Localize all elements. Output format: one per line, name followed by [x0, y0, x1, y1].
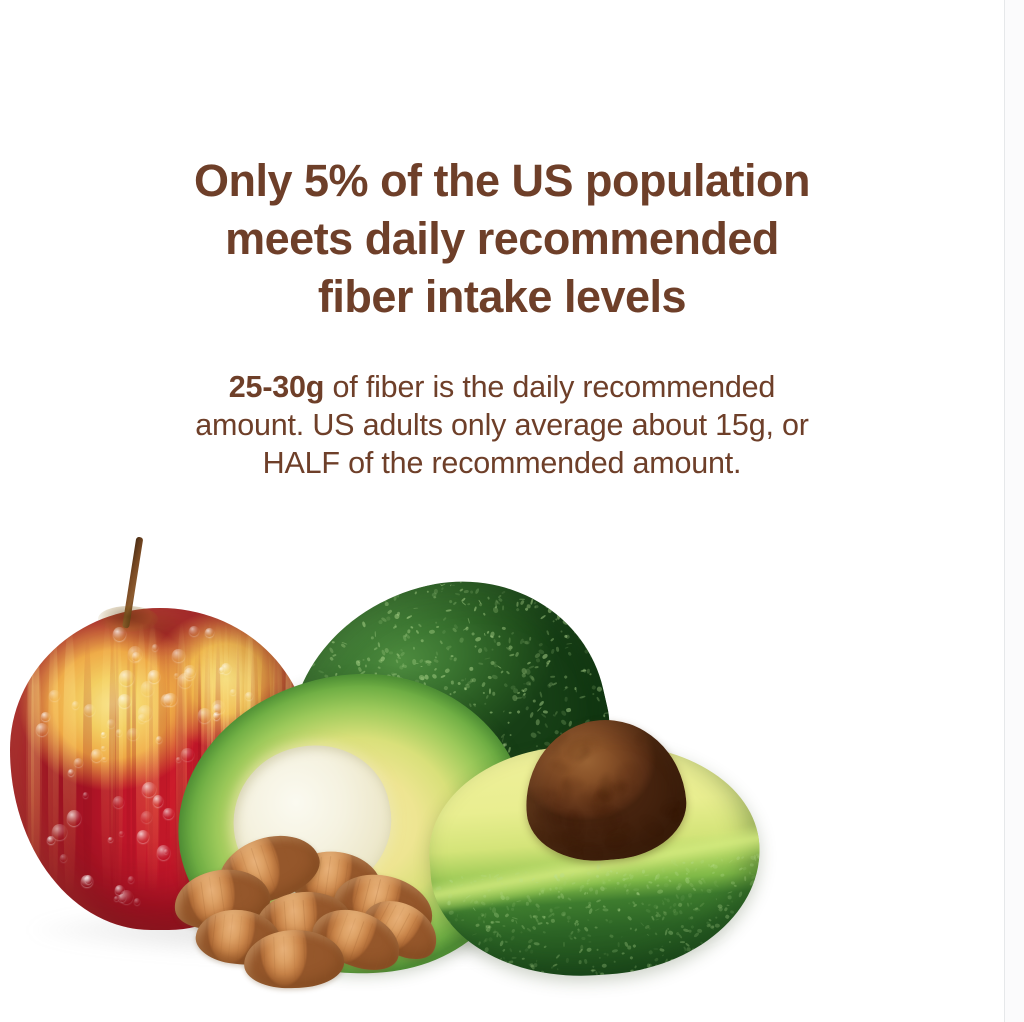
rind-speck — [410, 626, 413, 629]
rind-speck — [551, 919, 556, 924]
rind-speck — [493, 663, 497, 668]
rind-speck — [580, 945, 583, 951]
rind-speck — [728, 895, 732, 899]
rind-speck — [753, 913, 756, 916]
rind-speck — [651, 916, 655, 922]
rind-speck — [515, 607, 519, 611]
rind-speck — [699, 961, 703, 964]
water-droplet — [198, 708, 211, 722]
rind-speck — [506, 670, 510, 674]
rind-speck — [329, 656, 334, 661]
rind-speck — [718, 907, 723, 912]
rind-speck — [511, 956, 517, 959]
rind-speck — [533, 915, 536, 917]
rind-speck — [516, 710, 520, 714]
rind-speck — [550, 565, 556, 571]
rind-speck — [749, 880, 755, 887]
rind-speck — [763, 905, 768, 910]
rind-speck — [731, 901, 733, 903]
water-droplet — [163, 808, 174, 820]
rind-speck — [530, 732, 537, 739]
rind-speck — [502, 956, 506, 960]
rind-speck — [647, 904, 651, 907]
water-droplet — [107, 719, 115, 728]
rind-speck — [744, 932, 748, 936]
rind-speck — [688, 916, 692, 920]
rind-speck — [579, 888, 583, 892]
rind-speck — [720, 858, 724, 862]
rind-speck — [566, 915, 571, 920]
rind-speck — [491, 674, 498, 680]
rind-speck — [449, 599, 452, 603]
rind-speck — [427, 591, 429, 593]
rind-speck — [581, 937, 586, 940]
rind-speck — [397, 611, 401, 615]
rind-speck — [540, 879, 543, 882]
rind-speck — [569, 584, 571, 589]
water-droplet — [119, 831, 123, 836]
rind-speck — [563, 941, 565, 946]
rind-speck — [729, 859, 734, 863]
almond-grain — [253, 936, 255, 975]
rind-speck — [715, 898, 717, 901]
water-droplet — [49, 690, 60, 701]
rind-speck — [543, 945, 546, 948]
water-droplet — [212, 700, 225, 714]
water-droplet — [128, 876, 134, 883]
almond-grain — [263, 939, 266, 984]
almond-grain — [399, 915, 418, 949]
rind-speck — [523, 979, 529, 985]
rind-speck — [560, 719, 567, 726]
rind-speck — [481, 878, 484, 880]
rind-speck — [608, 920, 613, 925]
rind-speck — [592, 965, 595, 968]
rind-speck — [654, 947, 659, 950]
rind-speck — [503, 683, 508, 688]
rind-speck — [647, 888, 650, 890]
rind-speck — [572, 588, 574, 591]
rind-speck — [467, 603, 470, 605]
rind-speck — [457, 682, 461, 686]
rind-speck — [596, 864, 599, 869]
rind-speck — [714, 880, 719, 885]
rind-speck — [540, 615, 546, 620]
rind-speck — [574, 566, 577, 570]
water-droplet — [115, 885, 124, 895]
rind-speck — [521, 580, 524, 584]
pit-mottle — [526, 787, 551, 802]
rind-speck — [402, 664, 406, 668]
rind-speck — [599, 957, 601, 959]
rind-speck — [694, 868, 698, 872]
rind-speck — [363, 659, 365, 661]
apple-streak — [136, 621, 147, 917]
rind-speck — [484, 646, 489, 652]
rind-speck — [674, 871, 680, 877]
rind-speck — [536, 719, 540, 725]
rind-speck — [507, 961, 513, 965]
rind-speck — [331, 629, 338, 635]
rind-speck — [721, 930, 724, 933]
rind-speck — [743, 956, 746, 960]
rind-speck — [537, 731, 541, 734]
rind-speck — [659, 948, 665, 952]
rind-speck — [555, 646, 559, 652]
rind-speck — [329, 647, 334, 654]
rind-speck — [505, 975, 511, 981]
rind-speck — [483, 633, 485, 637]
rind-speck — [528, 674, 534, 681]
rind-speck — [444, 667, 450, 673]
water-droplet — [72, 701, 79, 709]
rind-speck — [419, 659, 424, 664]
rind-speck — [474, 646, 477, 649]
rind-speck — [499, 933, 503, 938]
rind-speck — [497, 665, 502, 669]
rind-speck — [455, 592, 460, 595]
rind-speck — [761, 888, 767, 894]
rind-speck — [669, 906, 672, 910]
rind-speck — [603, 712, 610, 714]
water-droplet — [68, 769, 75, 776]
rind-speck — [462, 679, 465, 681]
rind-speck — [504, 575, 507, 581]
water-droplet — [60, 854, 67, 862]
rind-speck — [415, 630, 419, 634]
rind-speck — [464, 589, 469, 592]
rind-speck — [525, 706, 529, 711]
rind-speck — [612, 949, 618, 953]
rind-speck — [441, 630, 446, 635]
rind-speck — [357, 659, 360, 662]
rind-speck — [495, 577, 499, 581]
almond-grain — [325, 856, 331, 895]
rind-speck — [645, 909, 651, 914]
rind-speck — [490, 712, 494, 715]
rind-speck — [502, 949, 506, 953]
rind-speck — [680, 941, 685, 943]
rind-speck — [483, 895, 487, 899]
rind-speck — [552, 578, 557, 583]
water-droplet — [91, 749, 102, 761]
rind-speck — [693, 932, 700, 938]
rind-speck — [453, 601, 457, 605]
rind-speck — [732, 944, 737, 949]
almond-grain — [273, 937, 275, 976]
rind-speck — [528, 665, 534, 669]
rind-speck — [646, 934, 650, 937]
rind-speck — [596, 948, 599, 951]
almond-grain — [303, 938, 306, 984]
rind-speck — [697, 928, 703, 932]
rind-speck — [700, 859, 705, 864]
rind-speck — [509, 638, 511, 644]
rind-speck — [591, 685, 596, 691]
rind-speck — [516, 971, 520, 975]
rind-speck — [686, 903, 689, 907]
rind-speck — [634, 929, 637, 932]
rind-speck — [633, 888, 639, 891]
rind-speck — [474, 637, 481, 643]
rind-speck — [621, 952, 624, 955]
water-droplet — [142, 782, 156, 797]
water-droplet — [137, 830, 149, 843]
rind-speck — [536, 745, 538, 747]
rind-speck — [510, 919, 514, 923]
rind-speck — [434, 668, 438, 672]
rind-speck — [511, 631, 515, 635]
avocado-rind-texture — [431, 853, 768, 986]
rind-speck — [505, 571, 508, 574]
rind-speck — [397, 594, 399, 598]
rind-speck — [565, 958, 568, 963]
rind-speck — [473, 960, 478, 966]
rind-speck — [716, 857, 718, 860]
rind-speck — [550, 675, 555, 677]
rind-speck — [754, 888, 759, 893]
rind-speck — [536, 959, 538, 962]
rind-speck — [483, 691, 486, 694]
almond-grain — [293, 936, 296, 980]
almond-grain — [236, 916, 242, 961]
rind-speck — [502, 605, 504, 610]
rind-speck — [564, 675, 568, 679]
rind-speck — [727, 890, 732, 893]
rind-speck — [499, 940, 504, 947]
rind-speck — [552, 963, 558, 967]
rind-speck — [494, 969, 500, 975]
rind-speck — [385, 602, 390, 607]
rind-speck — [588, 652, 595, 658]
rind-speck — [561, 630, 563, 632]
rind-speck — [596, 697, 601, 703]
rind-speck — [754, 920, 758, 925]
rind-speck — [654, 932, 658, 936]
rind-speck — [569, 937, 572, 939]
rind-speck — [749, 892, 753, 896]
rind-speck — [443, 686, 448, 691]
rind-speck — [725, 914, 731, 920]
rind-speck — [644, 968, 646, 971]
rind-speck — [431, 673, 437, 679]
almond-grain — [228, 914, 234, 960]
rind-speck — [346, 603, 351, 610]
rind-speck — [545, 597, 548, 600]
rind-speck — [747, 909, 752, 913]
rind-speck — [713, 865, 718, 869]
rind-speck — [641, 902, 644, 905]
rind-speck — [629, 956, 633, 960]
rind-speck — [562, 913, 566, 917]
rind-speck — [491, 649, 493, 651]
rind-speck — [727, 905, 730, 907]
almond-grain — [374, 928, 391, 972]
rind-speck — [524, 971, 529, 976]
rind-speck — [592, 970, 594, 973]
rind-speck — [567, 652, 572, 657]
rind-speck — [366, 657, 370, 662]
rind-speck — [505, 941, 508, 943]
rind-speck — [679, 956, 681, 958]
rind-speck — [686, 873, 688, 875]
rind-speck — [489, 688, 491, 694]
rind-speck — [754, 900, 758, 904]
rind-speck — [627, 915, 633, 921]
rind-speck — [555, 575, 558, 579]
rind-speck — [503, 710, 505, 712]
rind-speck — [551, 648, 555, 653]
water-droplet — [113, 796, 124, 808]
rind-speck — [389, 651, 393, 654]
rind-speck — [577, 929, 581, 933]
water-droplet — [230, 689, 235, 695]
rind-speck — [338, 664, 342, 668]
rind-speck — [666, 876, 669, 878]
rind-speck — [509, 733, 512, 736]
water-droplet — [116, 729, 122, 735]
rind-speck — [370, 599, 374, 603]
almond-grain — [211, 916, 216, 956]
rind-speck — [358, 666, 362, 672]
rind-speck — [585, 642, 587, 648]
rind-speck — [474, 606, 478, 611]
rind-speck — [657, 889, 664, 894]
rind-speck — [485, 971, 491, 975]
rind-speck — [577, 635, 583, 641]
water-droplet — [245, 692, 253, 701]
rind-speck — [507, 721, 510, 724]
rind-speck — [680, 895, 685, 902]
rind-speck — [464, 677, 466, 681]
rind-speck — [515, 920, 518, 925]
rind-speck — [552, 913, 555, 916]
headline-line-1: Only 5% of the US population — [120, 152, 884, 210]
rind-speck — [484, 946, 489, 952]
rind-speck — [599, 863, 602, 868]
almond-grain — [181, 883, 187, 921]
rind-speck — [407, 616, 410, 619]
water-droplet — [176, 757, 181, 762]
rind-speck — [742, 866, 747, 871]
rind-speck — [654, 964, 660, 970]
rind-speck — [459, 579, 463, 584]
rind-speck — [568, 906, 572, 908]
rind-speck — [668, 879, 671, 882]
rind-speck — [710, 964, 713, 967]
rind-speck — [578, 960, 582, 964]
rind-speck — [622, 878, 626, 882]
rind-speck — [739, 920, 744, 926]
rind-speck — [318, 670, 324, 674]
rind-speck — [572, 615, 575, 620]
almond-grain — [313, 937, 316, 983]
rind-speck — [511, 928, 516, 933]
water-droplet — [41, 712, 49, 721]
rind-speck — [500, 882, 504, 885]
rind-speck — [759, 896, 763, 899]
rind-speck — [692, 887, 696, 891]
rind-speck — [576, 593, 581, 599]
rind-speck — [474, 946, 478, 951]
rind-speck — [475, 900, 480, 905]
rind-speck — [562, 619, 570, 626]
rind-speck — [498, 594, 502, 598]
rind-speck — [477, 599, 481, 604]
rind-speck — [478, 941, 481, 945]
rind-speck — [470, 590, 473, 594]
rind-speck — [365, 665, 368, 668]
rind-speck — [564, 697, 568, 702]
rind-speck — [661, 945, 664, 947]
rind-speck — [407, 629, 410, 633]
rind-speck — [750, 864, 754, 867]
rind-speck — [492, 606, 499, 614]
water-droplet — [101, 746, 105, 751]
rind-speck — [748, 931, 754, 934]
pit-mottle — [663, 729, 672, 743]
rind-speck — [521, 932, 523, 934]
rind-speck — [526, 661, 531, 665]
rind-speck — [436, 626, 439, 628]
rind-speck — [729, 932, 734, 934]
rind-speck — [567, 897, 571, 901]
almond-grain — [220, 914, 225, 954]
rind-speck — [595, 908, 600, 911]
rind-speck — [496, 641, 501, 646]
rind-speck — [510, 936, 515, 942]
rind-speck — [678, 933, 683, 939]
water-droplet — [138, 705, 152, 720]
water-droplet — [141, 811, 152, 823]
apple-streak — [28, 621, 34, 917]
rind-speck — [512, 694, 518, 701]
rind-speck — [504, 886, 508, 891]
rind-speck — [314, 654, 319, 659]
produce-photo — [0, 500, 800, 1000]
rind-speck — [586, 947, 592, 953]
rind-speck — [755, 953, 760, 958]
rind-speck — [512, 902, 516, 908]
pit-mottle — [554, 799, 568, 807]
rind-speck — [533, 700, 536, 703]
water-droplet — [184, 668, 195, 680]
rind-speck — [587, 934, 591, 937]
rind-speck — [766, 950, 767, 955]
rind-speck — [739, 957, 741, 959]
rind-speck — [609, 869, 613, 873]
rind-speck — [668, 941, 671, 944]
rind-speck — [475, 923, 479, 927]
rind-speck — [525, 901, 529, 905]
rind-speck — [509, 711, 512, 713]
rind-speck — [701, 888, 704, 891]
headline: Only 5% of the US population meets daily… — [0, 152, 1004, 326]
rind-speck — [517, 692, 521, 695]
water-droplet — [152, 644, 158, 651]
rind-speck — [597, 686, 603, 692]
rind-speck — [442, 618, 446, 622]
right-edge-strip — [1004, 0, 1024, 1022]
rind-speck — [562, 563, 567, 568]
rind-speck — [714, 923, 719, 927]
rind-speck — [728, 963, 732, 965]
rind-speck — [381, 599, 387, 602]
rind-speck — [499, 636, 501, 638]
apple-streak — [48, 621, 58, 917]
rind-speck — [505, 895, 511, 901]
rind-speck — [554, 589, 559, 593]
